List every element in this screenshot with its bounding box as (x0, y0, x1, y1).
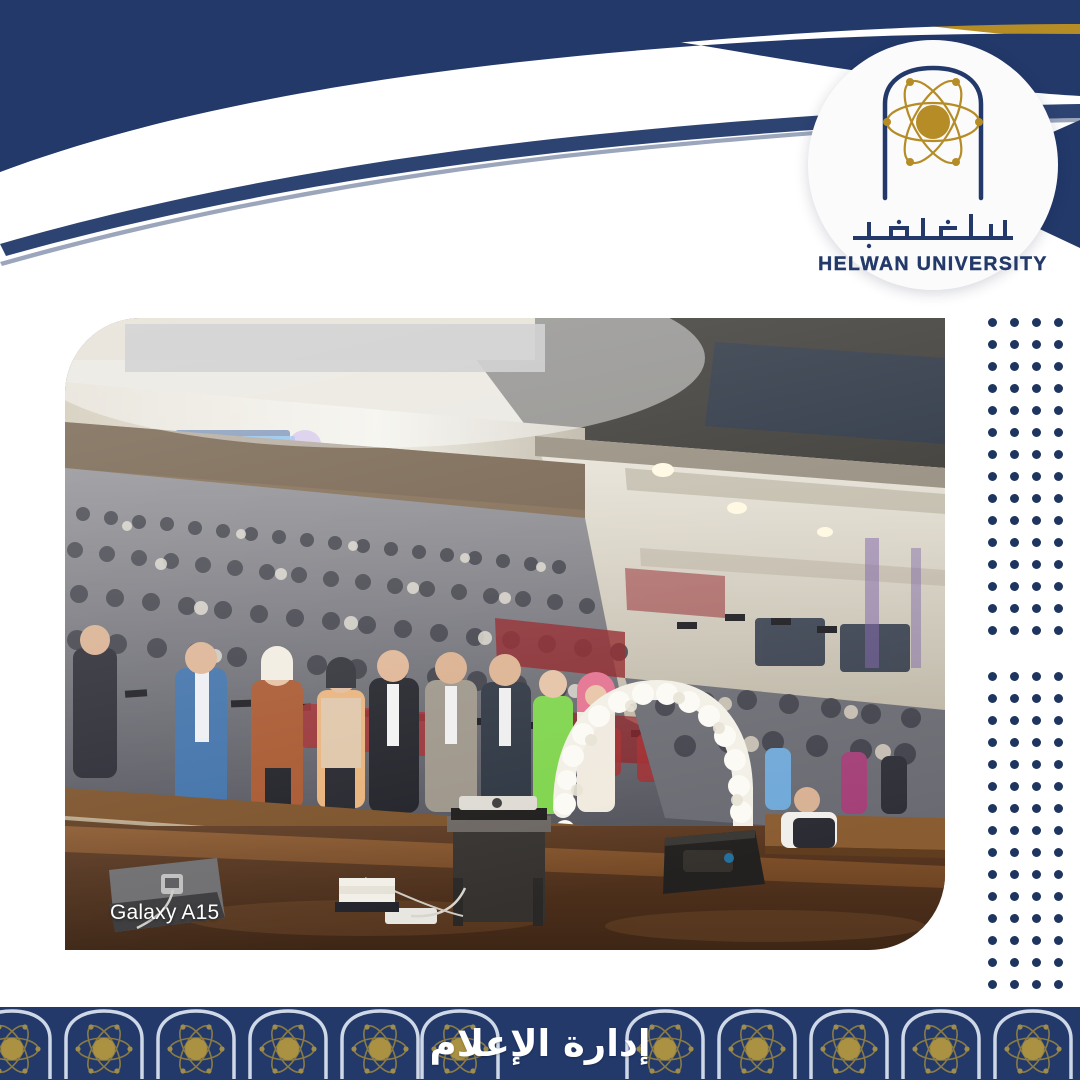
grid-dot (988, 738, 997, 747)
grid-dot (988, 826, 997, 835)
logo-arabic-wordmark-icon (845, 206, 1021, 252)
grid-dot (1032, 936, 1041, 945)
grid-dot (988, 804, 997, 813)
auditorium-graduation-photo: Galaxy A15 (65, 318, 945, 950)
grid-dot (1010, 936, 1019, 945)
grid-dot (1054, 406, 1063, 415)
grid-dot (1032, 340, 1041, 349)
grid-dot (1032, 318, 1041, 327)
grid-dot (988, 980, 997, 989)
grid-dot (1054, 516, 1063, 525)
grid-dot (988, 936, 997, 945)
grid-dot (1032, 826, 1041, 835)
grid-dot (1010, 494, 1019, 503)
grid-dot (1032, 980, 1041, 989)
grid-dot (1054, 672, 1063, 681)
grid-dot (1032, 738, 1041, 747)
grid-dot (1032, 892, 1041, 901)
grid-dot (1032, 362, 1041, 371)
grid-dot (1010, 782, 1019, 791)
grid-dot (1010, 804, 1019, 813)
grid-dot (1032, 384, 1041, 393)
grid-dot (988, 626, 997, 635)
grid-dot (988, 406, 997, 415)
grid-dot (1054, 958, 1063, 967)
grid-dot (1010, 384, 1019, 393)
grid-dot (1010, 716, 1019, 725)
grid-dot (1054, 738, 1063, 747)
grid-dot (1010, 694, 1019, 703)
grid-dot (988, 516, 997, 525)
grid-dot (1054, 384, 1063, 393)
camera-watermark: Galaxy A15 (110, 901, 219, 925)
grid-dot (1032, 450, 1041, 459)
grid-dot (1010, 428, 1019, 437)
grid-dot (1054, 362, 1063, 371)
grid-dot (1032, 958, 1041, 967)
navy-dot-grid-top (988, 318, 1076, 638)
grid-dot (1032, 538, 1041, 547)
grid-dot (1010, 980, 1019, 989)
grid-dot (1054, 560, 1063, 569)
grid-dot (1010, 892, 1019, 901)
grid-dot (1010, 472, 1019, 481)
grid-dot (1010, 516, 1019, 525)
grid-dot (1054, 892, 1063, 901)
grid-dot (988, 538, 997, 547)
grid-dot (1054, 716, 1063, 725)
grid-dot (988, 384, 997, 393)
grid-dot (1054, 914, 1063, 923)
grid-dot (1032, 560, 1041, 569)
grid-dot (1010, 958, 1019, 967)
grid-dot (1010, 362, 1019, 371)
grid-dot (988, 716, 997, 725)
grid-dot (1054, 626, 1063, 635)
grid-dot (1010, 626, 1019, 635)
grid-dot (1010, 826, 1019, 835)
grid-dot (1032, 516, 1041, 525)
grid-dot (1032, 694, 1041, 703)
grid-dot (1054, 538, 1063, 547)
grid-dot (1032, 604, 1041, 613)
grid-dot (1032, 760, 1041, 769)
grid-dot (988, 870, 997, 879)
grid-dot (1054, 804, 1063, 813)
grid-dot (1054, 826, 1063, 835)
grid-dot (1054, 582, 1063, 591)
grid-dot (988, 340, 997, 349)
grid-dot (988, 494, 997, 503)
grid-dot (1032, 848, 1041, 857)
grid-dot (1010, 582, 1019, 591)
grid-dot (988, 892, 997, 901)
grid-dot (1032, 914, 1041, 923)
grid-dot (1054, 936, 1063, 945)
grid-dot (1032, 582, 1041, 591)
grid-dot (1010, 318, 1019, 327)
grid-dot (1010, 604, 1019, 613)
grid-dot (1010, 738, 1019, 747)
grid-dot (1010, 914, 1019, 923)
atom-arch-icon (845, 60, 1021, 210)
grid-dot (988, 782, 997, 791)
grid-dot (1010, 340, 1019, 349)
bottom-banner: إدارة الإعلام (0, 1007, 1080, 1080)
grid-dot (1054, 340, 1063, 349)
grid-dot (988, 582, 997, 591)
grid-dot (988, 362, 997, 371)
grid-dot (988, 760, 997, 769)
grid-dot (988, 914, 997, 923)
grid-dot (1010, 760, 1019, 769)
grid-dot (1010, 870, 1019, 879)
grid-dot (1054, 694, 1063, 703)
navy-dot-grid-bottom (988, 672, 1076, 992)
banner-title: إدارة الإعلام (0, 1007, 1080, 1080)
grid-dot (988, 450, 997, 459)
grid-dot (1054, 472, 1063, 481)
grid-dot (988, 428, 997, 437)
grid-dot (1010, 450, 1019, 459)
grid-dot (1010, 848, 1019, 857)
grid-dot (1054, 604, 1063, 613)
grid-dot (1054, 980, 1063, 989)
grid-dot (988, 472, 997, 481)
grid-dot (1054, 494, 1063, 503)
grid-dot (988, 672, 997, 681)
grid-dot (1010, 560, 1019, 569)
grid-dot (988, 604, 997, 613)
grid-dot (1032, 716, 1041, 725)
grid-dot (1032, 782, 1041, 791)
grid-dot (1010, 406, 1019, 415)
grid-dot (988, 958, 997, 967)
grid-dot (1054, 848, 1063, 857)
grid-dot (988, 560, 997, 569)
grid-dot (1032, 626, 1041, 635)
grid-dot (1032, 870, 1041, 879)
grid-dot (1032, 494, 1041, 503)
grid-dot (1054, 318, 1063, 327)
grid-dot (1010, 672, 1019, 681)
grid-dot (1032, 804, 1041, 813)
grid-dot (1054, 428, 1063, 437)
grid-dot (1010, 538, 1019, 547)
grid-dot (1032, 406, 1041, 415)
grid-dot (1054, 760, 1063, 769)
poster-canvas: HELWAN UNIVERSITY (0, 0, 1080, 1080)
grid-dot (1054, 870, 1063, 879)
logo-english-name: HELWAN UNIVERSITY (818, 253, 1048, 276)
grid-dot (988, 848, 997, 857)
grid-dot (1054, 782, 1063, 791)
helwan-university-logo-badge: HELWAN UNIVERSITY (808, 40, 1058, 290)
grid-dot (1054, 450, 1063, 459)
grid-dot (988, 694, 997, 703)
grid-dot (1032, 472, 1041, 481)
grid-dot (988, 318, 997, 327)
grid-dot (1032, 428, 1041, 437)
grid-dot (1032, 672, 1041, 681)
